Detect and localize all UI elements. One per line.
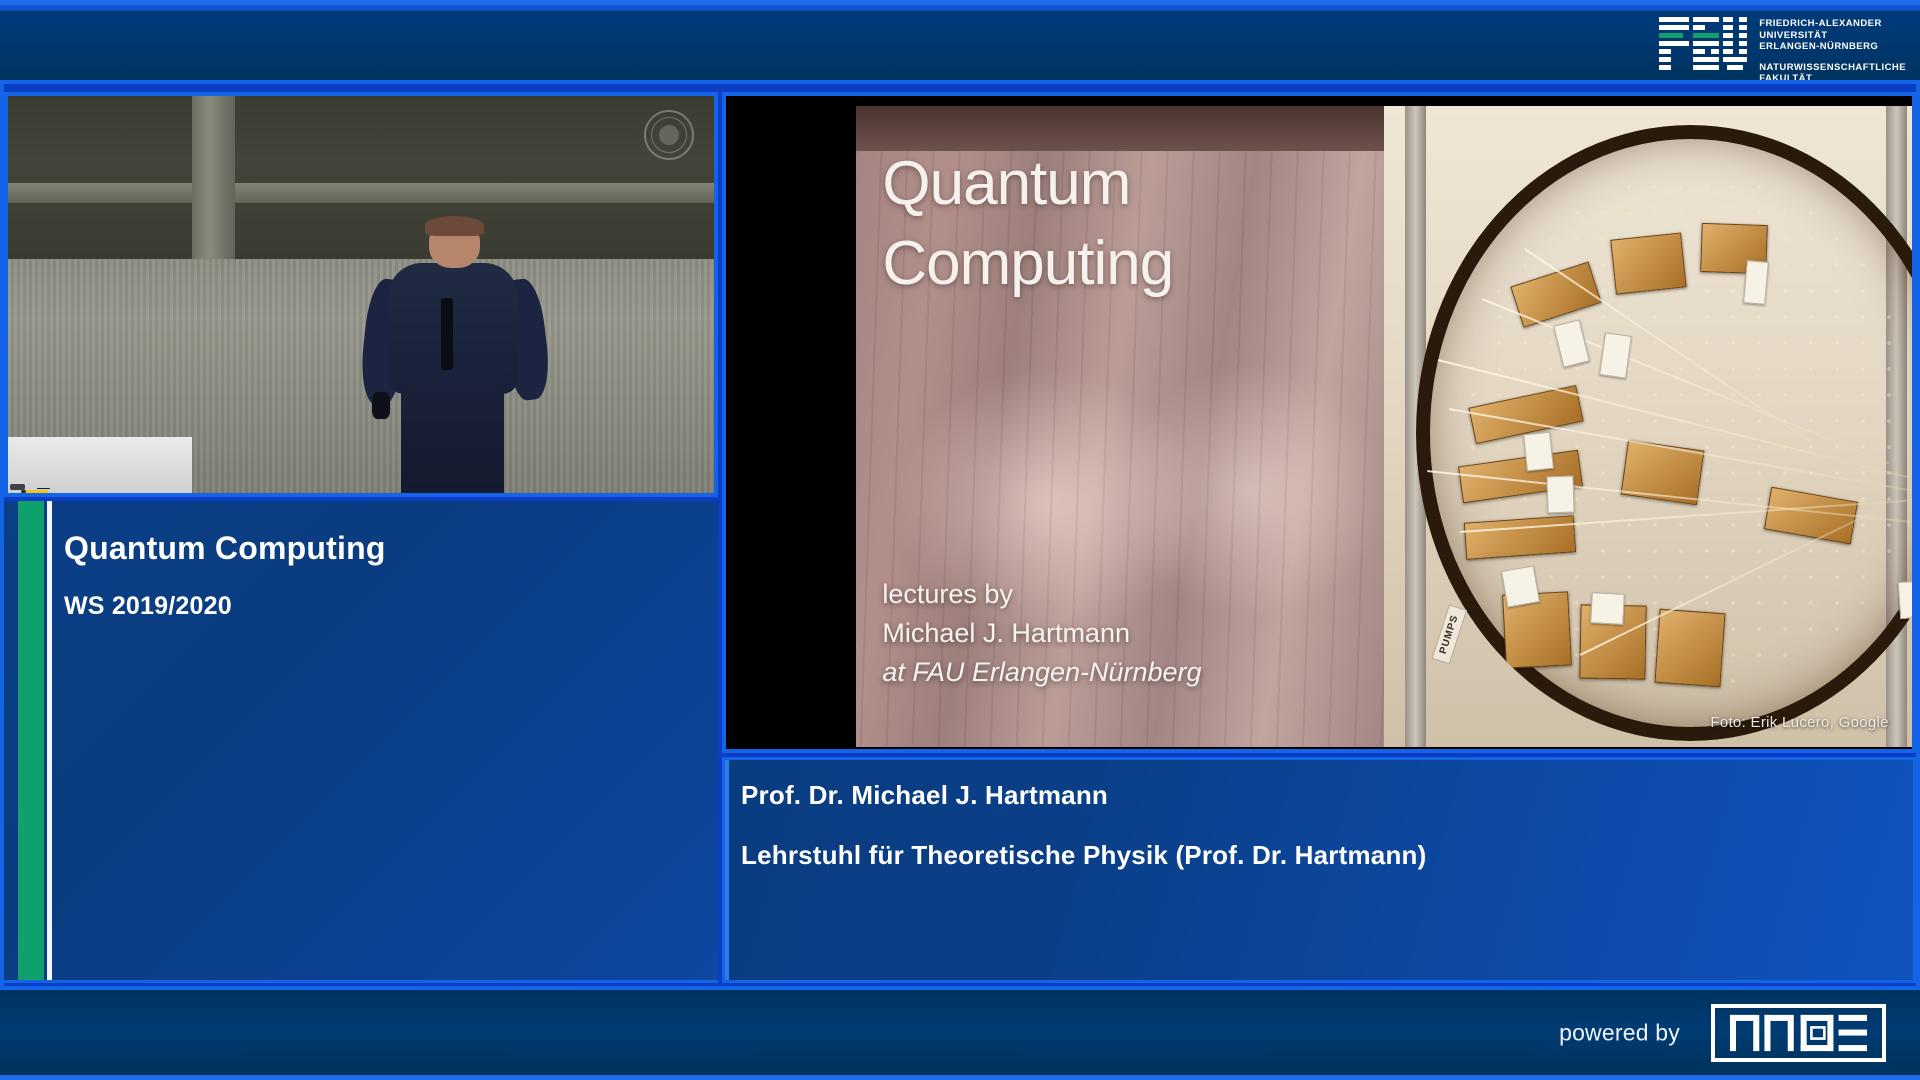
processor-pad — [1464, 515, 1576, 559]
lecturer-hand — [372, 392, 390, 419]
powered-by-label: powered by — [1559, 1019, 1680, 1046]
frame-edge-right — [1916, 84, 1920, 986]
processor-tag — [1547, 476, 1576, 514]
slide-title: Quantum Computing — [882, 144, 1173, 303]
presenter-accent-bar — [725, 760, 729, 980]
title-slide-image: PUMPS Quantum Computing lectures by Mich… — [856, 106, 1912, 747]
accent-bar-white — [47, 501, 52, 980]
recording-player-stage: FRIEDRICH-ALEXANDER UNIVERSITÄT ERLANGEN… — [0, 0, 1920, 1080]
slide-byline-line-2: Michael J. Hartmann — [882, 614, 1201, 653]
processor-tag — [1743, 260, 1769, 305]
lectern-desk — [8, 437, 192, 493]
lecture-info-text: Quantum Computing WS 2019/2020 — [64, 531, 702, 621]
fau-line-5: FAKULTÄT — [1759, 73, 1906, 85]
fau-line-3: ERLANGEN-NÜRNBERG — [1759, 41, 1906, 53]
slide-title-line-1: Quantum — [882, 144, 1173, 223]
rrze-logo-icon[interactable] — [1711, 1004, 1886, 1062]
lecture-term: WS 2019/2020 — [64, 592, 702, 621]
fau-line-1: FRIEDRICH-ALEXANDER — [1759, 18, 1906, 30]
processor-tag — [1501, 566, 1540, 608]
slide-quantum-processor-photo: PUMPS — [1384, 106, 1912, 747]
presenter-chair: Lehrstuhl für Theoretische Physik (Prof.… — [741, 840, 1893, 871]
hall-ceiling-beam — [8, 183, 714, 203]
presenter-info-panel: Prof. Dr. Michael J. Hartmann Lehrstuhl … — [722, 757, 1916, 983]
slide-byline-line-3: at FAU Erlangen-Nürnberg — [882, 653, 1201, 692]
processor-tag — [1591, 592, 1626, 624]
processor-tag — [1898, 579, 1912, 618]
lecture-info-panel: Quantum Computing WS 2019/2020 — [4, 501, 718, 983]
page-footer: powered by — [0, 986, 1920, 1080]
slide-byline-line-1: lectures by — [882, 575, 1201, 614]
slide-byline: lectures by Michael J. Hartmann at FAU E… — [882, 575, 1201, 692]
lecturer-video-panel[interactable] — [4, 92, 718, 497]
hall-pillar — [192, 96, 236, 259]
slide-panel[interactable]: PUMPS Quantum Computing lectures by Mich… — [722, 92, 1916, 753]
fau-line-2: UNIVERSITÄT — [1759, 30, 1906, 42]
fau-line-4: NATURWISSENSCHAFTLICHE — [1759, 62, 1906, 74]
lecturer-legs — [401, 383, 504, 493]
slide-photo-credit: Foto: Erik Lucero, Google — [1710, 714, 1888, 731]
processor-pad — [1655, 609, 1726, 687]
presenter-name: Prof. Dr. Michael J. Hartmann — [741, 780, 1893, 811]
page-header: FRIEDRICH-ALEXANDER UNIVERSITÄT ERLANGEN… — [0, 0, 1920, 84]
pumps-label: PUMPS — [1431, 605, 1467, 665]
processor-pad — [1611, 232, 1688, 295]
fau-logo-wordmark: FRIEDRICH-ALEXANDER UNIVERSITÄT ERLANGEN… — [1759, 15, 1906, 85]
fau-logo-mark-icon — [1657, 15, 1749, 73]
video-frame — [8, 96, 714, 493]
lecture-title: Quantum Computing — [64, 531, 702, 566]
lecturer-hair — [425, 216, 484, 235]
fau-logo: FRIEDRICH-ALEXANDER UNIVERSITÄT ERLANGEN… — [1657, 15, 1906, 85]
processor-tag — [1524, 432, 1555, 472]
lecturer-figure — [354, 219, 552, 493]
lecturer-microphone-icon — [441, 298, 453, 369]
presenter-text: Prof. Dr. Michael J. Hartmann Lehrstuhl … — [741, 780, 1893, 871]
slide-title-line-2: Computing — [882, 224, 1173, 303]
university-seal-watermark-icon — [644, 110, 694, 160]
quantum-processor-disk — [1416, 125, 1912, 740]
accent-bar-green — [18, 501, 44, 980]
desk-folder — [26, 490, 48, 493]
desk-cable — [37, 488, 50, 489]
